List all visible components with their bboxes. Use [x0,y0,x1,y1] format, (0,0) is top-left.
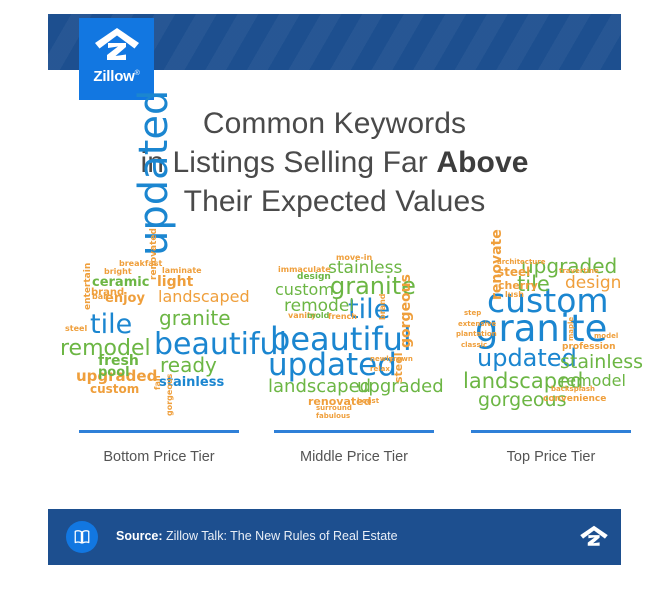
cloud-word: fabulous [316,413,350,420]
cloud-word: architecture [497,259,545,266]
cloud-word: bright [104,268,132,276]
cloud-word: steel [65,325,87,333]
zillow-z-mark-icon [577,520,611,554]
cloud-word: bar [92,293,107,301]
tier-label: Middle Price Tier [269,449,439,465]
footer-bar: Source: Zillow Talk: The New Rules of Re… [48,509,621,565]
cloud-word: tile [90,311,132,338]
word-cloud-middle-price-tier: beautifulupdatedtilegranitelandscapedupg… [258,238,453,423]
cloud-word: steel [497,266,530,278]
cloud-word: model [594,333,618,340]
cloud-word: profession [562,343,615,352]
zillow-wordmark: Zillow® [93,68,139,85]
cloud-word: light [157,275,193,289]
cloud-word: custom [90,383,139,395]
zillow-house-z-logo-icon [93,27,141,65]
word-cloud-bottom-price-tier: updatedbeautifultileremodelgranitelandsc… [62,238,257,423]
cloud-word: ready [160,355,217,375]
cloud-word: plantation [456,331,497,338]
tier-label: Top Price Tier [466,449,636,465]
cloud-word: design [565,275,621,292]
zillow-logo-box: Zillow® [79,18,154,100]
tier-top-price: Top Price Tier [466,430,636,465]
title-emphasis-above: Above [436,146,528,179]
tier-middle-price: Middle Price Tier [269,430,439,465]
tier-divider-rule [79,430,239,433]
cloud-word: immaculate [278,266,331,274]
title-line-2-prefix: in Listings Selling Far [140,146,436,179]
cloud-word: boast [357,398,379,405]
cloud-word: backsplash [551,386,595,393]
cloud-word: crown [389,356,413,363]
cloud-word: landscaped [268,378,371,396]
open-book-icon [66,521,98,553]
title-line-3: Their Expected Values [0,182,669,221]
word-cloud-group: updatedbeautifultileremodelgranitelandsc… [0,238,669,423]
cloud-word: lush [505,291,524,299]
cloud-word: french [328,313,357,321]
cloud-word: travertine [559,268,599,275]
cloud-word: stainless [328,260,402,277]
cloud-word: extensive [458,321,496,328]
cloud-word: stainless [560,353,643,372]
cloud-word: step [464,310,481,317]
cloud-word: move-in [336,254,372,262]
cloud-word: pool [98,366,130,379]
word-cloud-top-price-tier: granitecustomupdatedlandscapedupgradedst… [455,238,650,423]
title-line-1: Common Keywords [0,104,669,143]
tier-bottom-price: Bottom Price Tier [74,430,244,465]
title-line-2: in Listings Selling Far Above [0,143,669,182]
cloud-word: landscaped [158,289,250,305]
page-title: Common Keywords in Listings Selling Far … [0,104,669,221]
cloud-word: custom [275,282,334,298]
source-value: Zillow Talk: The New Rules of Real Estat… [163,529,398,543]
tier-divider-rule [471,430,631,433]
cloud-word: convenience [543,395,606,404]
tier-label-group: Bottom Price Tier Middle Price Tier Top … [0,430,669,480]
cloud-word: maple [568,317,575,341]
source-label: Source: [116,529,163,543]
cloud-word: renovated [150,228,159,280]
source-credit: Source: Zillow Talk: The New Rules of Re… [116,529,398,543]
cloud-word: design [297,273,331,282]
cloud-word: classic [461,342,487,349]
cloud-word: gorgeous [399,274,413,348]
cloud-word: relax [370,366,390,373]
cloud-word: laminate [162,267,202,275]
cloud-word: fan [154,375,162,390]
cloud-word: surround [316,405,352,412]
cloud-word: entertain [84,263,93,310]
cloud-word: granite [159,308,231,328]
cloud-word: gorgeous [166,374,174,416]
tier-divider-rule [274,430,434,433]
tier-label: Bottom Price Tier [74,449,244,465]
cloud-word: brand [379,294,387,321]
cloud-word: mold [307,312,329,320]
